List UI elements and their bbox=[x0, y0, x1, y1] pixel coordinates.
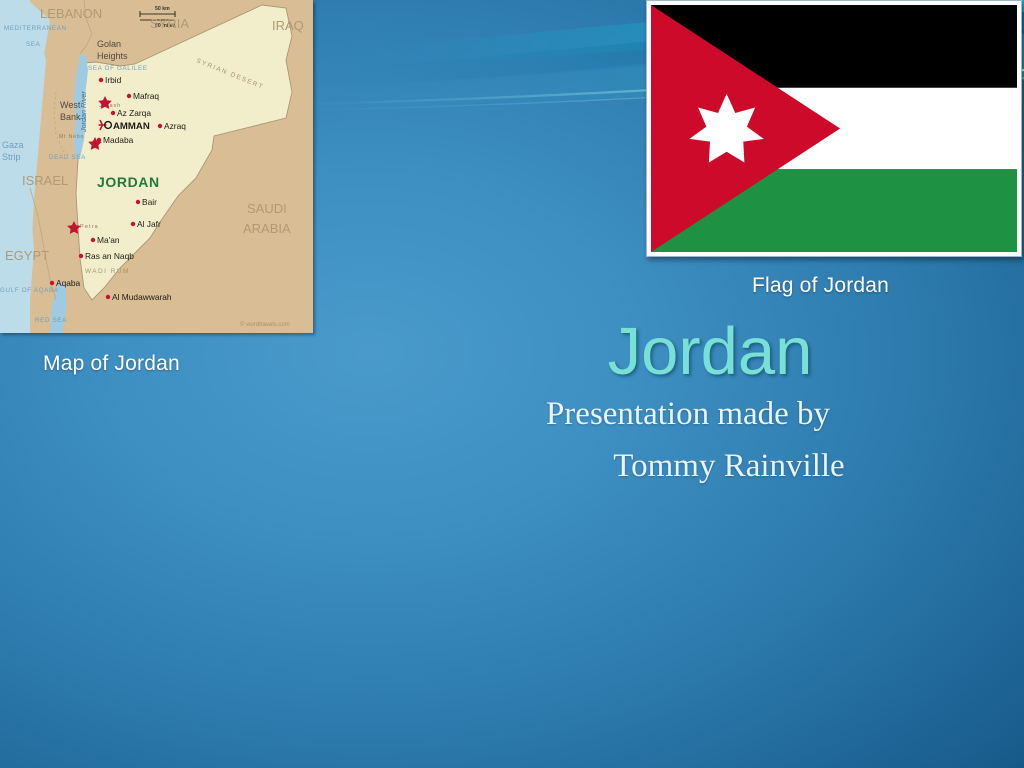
map-label-saudi: SAUDI bbox=[247, 201, 287, 216]
map-label-al-mudawwarah: Al Mudawwarah bbox=[112, 292, 172, 302]
map-label-israel: ISRAEL bbox=[22, 173, 68, 188]
map-label-syria: SYRIA bbox=[150, 16, 189, 31]
map-label-jordan-river: Jordan River bbox=[79, 91, 88, 133]
map-label-azraq: Azraq bbox=[164, 121, 186, 131]
map-dot-ras-an-naqb bbox=[79, 254, 83, 258]
map-label-mafraq: Mafraq bbox=[133, 91, 159, 101]
subtitle-line-2: Tommy Rainville bbox=[448, 440, 928, 492]
map-label-jordan: JORDAN bbox=[97, 174, 160, 190]
map-label-irbid: Irbid bbox=[105, 75, 122, 85]
map-dot-maan bbox=[91, 238, 95, 242]
flag-svg bbox=[651, 5, 1017, 252]
map-label-egypt: EGYPT bbox=[5, 248, 49, 263]
map-label-iraq: IRAQ bbox=[272, 18, 304, 33]
map-label-mt-nebo: Mt Nebo bbox=[59, 134, 84, 140]
map-dot-aqaba bbox=[50, 281, 54, 285]
map-of-jordan-image[interactable]: 50 km 50 miles LEBANON SYRIA IRAQ ISRAEL… bbox=[0, 0, 313, 333]
map-label-golan: Golan bbox=[97, 39, 121, 49]
presentation-slide: 50 km 50 miles LEBANON SYRIA IRAQ ISRAEL… bbox=[0, 0, 1024, 768]
map-dot-bair bbox=[136, 200, 140, 204]
map-label-lebanon: LEBANON bbox=[40, 6, 102, 21]
map-dot-mafraq bbox=[127, 94, 131, 98]
map-label-madaba: Madaba bbox=[103, 135, 134, 145]
map-dot-al-mudawwarah bbox=[106, 295, 110, 299]
map-dot-al-jafr bbox=[131, 222, 135, 226]
map-label-maan: Ma'an bbox=[97, 235, 120, 245]
map-dot-azraq bbox=[158, 124, 162, 128]
map-label-west: West bbox=[60, 100, 81, 110]
map-label-az-zarqa: Az Zarqa bbox=[117, 108, 151, 118]
map-label-strip: Strip bbox=[2, 152, 21, 162]
map-caption-label: Map of Jordan bbox=[43, 352, 180, 376]
flag-caption-label: Flag of Jordan bbox=[752, 274, 889, 298]
subtitle-line-1: Presentation made by bbox=[448, 388, 928, 440]
map-label-wadi-rum: WADI RUM bbox=[85, 268, 130, 275]
map-scale-km: 50 km bbox=[155, 6, 170, 12]
map-credit: © wordtravels.com bbox=[240, 321, 290, 328]
slide-title: Jordan bbox=[500, 318, 920, 385]
map-label-heights: Heights bbox=[97, 51, 128, 61]
map-label-arabia: ARABIA bbox=[243, 221, 291, 236]
flag-inner-canvas bbox=[651, 5, 1017, 252]
map-label-bank: Bank bbox=[60, 112, 81, 122]
map-label-sea: SEA bbox=[26, 41, 41, 48]
map-label-aqaba: Aqaba bbox=[56, 278, 81, 288]
map-dot-az-zarqa bbox=[111, 111, 115, 115]
map-label-al-jafr: Al Jafr bbox=[137, 219, 161, 229]
flag-of-jordan-image[interactable] bbox=[646, 0, 1022, 257]
map-label-amman: AMMAN bbox=[113, 121, 150, 132]
map-label-petra: Petra bbox=[80, 224, 99, 230]
slide-subtitle: Presentation made by Tommy Rainville bbox=[448, 388, 928, 492]
map-svg: 50 km 50 miles LEBANON SYRIA IRAQ ISRAEL… bbox=[0, 0, 313, 333]
map-label-gulf-of-aqaba: GULF OF AQABA bbox=[0, 287, 59, 294]
map-label-red-sea: RED SEA bbox=[35, 317, 67, 324]
map-label-ras-an-naqb: Ras an Naqb bbox=[85, 251, 134, 261]
map-label-gaza: Gaza bbox=[2, 140, 24, 150]
map-label-mediterranean: MEDITERRANEAN bbox=[4, 25, 67, 32]
map-label-dead-sea: DEAD SEA bbox=[49, 154, 86, 161]
map-label-bair: Bair bbox=[142, 197, 157, 207]
map-label-sea-of-galilee: SEA OF GALILEE bbox=[88, 65, 148, 72]
map-dot-irbid bbox=[99, 78, 103, 82]
